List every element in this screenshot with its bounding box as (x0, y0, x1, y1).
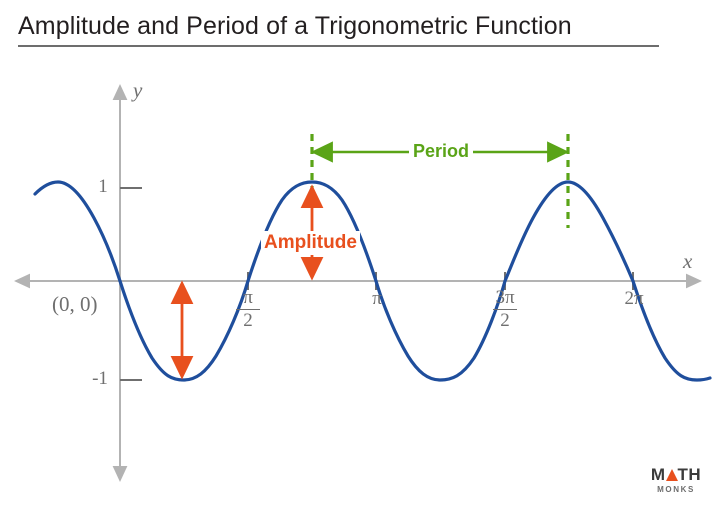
plot-svg (0, 0, 720, 512)
period-label: Period (409, 140, 473, 163)
triangle-icon (666, 469, 678, 481)
fraction-denominator: 2 (485, 311, 525, 331)
fraction-numerator: 3π (485, 288, 525, 308)
y-tick-label-1: 1 (92, 176, 114, 198)
logo-letter-m: M (651, 465, 666, 484)
logo-wordmark: MTH (651, 466, 701, 483)
logo-subtext: MONKS (645, 486, 707, 494)
fraction-denominator: 2 (228, 311, 268, 331)
origin-label: (0, 0) (52, 292, 98, 317)
x-axis-label: x (683, 249, 692, 274)
math-monks-logo: MTH MONKS (645, 466, 707, 494)
amplitude-label: Amplitude (261, 231, 360, 255)
x-tick-label-pi: π (366, 288, 388, 310)
x-tick-label-pi-over-2: π 2 (228, 288, 268, 331)
diagram-canvas: Amplitude and Period of a Trigonometric … (0, 0, 720, 512)
x-tick-label-3pi-over-2: 3π 2 (485, 288, 525, 331)
y-tick-label-neg1: -1 (86, 368, 114, 390)
fraction-numerator: π (228, 288, 268, 308)
y-axis-label: y (133, 78, 142, 103)
trig-function-plot: y x 1 -1 π 2 π 3π 2 2π (0, 0) Amplitude … (0, 0, 720, 512)
x-tick-label-2pi: 2π (618, 288, 650, 310)
logo-letters-th: TH (678, 465, 702, 484)
